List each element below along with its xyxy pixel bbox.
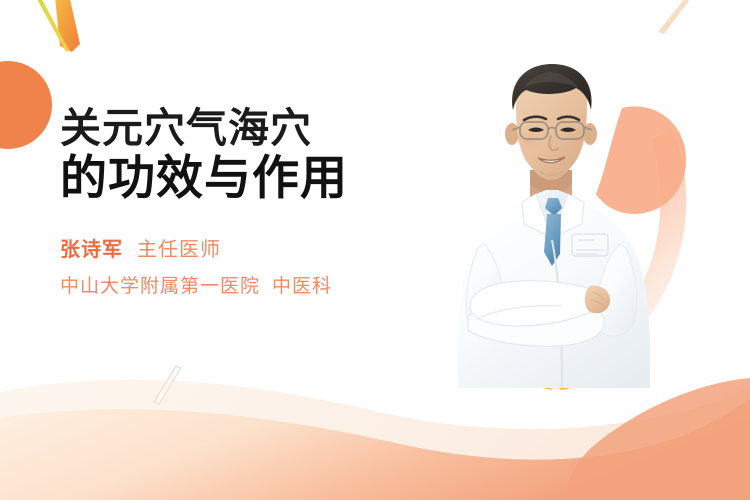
poster-canvas: 关元穴气海穴 的功效与作用 张诗军主任医师 中山大学附属第一医院中医科 bbox=[0, 0, 750, 500]
page-title-line-2: 的功效与作用 bbox=[60, 153, 460, 204]
presenter-name-row: 张诗军主任医师 bbox=[60, 240, 460, 260]
page-title-line-1: 关元穴气海穴 bbox=[60, 108, 460, 149]
orange-circle bbox=[0, 61, 52, 149]
bottom-wave-soft bbox=[0, 380, 750, 500]
presenter-department: 中医科 bbox=[272, 276, 332, 297]
doctor-portrait-illustration bbox=[432, 58, 682, 388]
yellow-line-stroke bbox=[33, 0, 69, 52]
presenter-name: 张诗军 bbox=[60, 239, 123, 261]
presenter-hospital: 中山大学附属第一医院 bbox=[60, 276, 260, 297]
bottom-wave bbox=[0, 398, 750, 500]
orange-ribbon-stroke bbox=[54, 0, 80, 52]
presenter-professional-title: 主任医师 bbox=[137, 239, 221, 261]
coral-blob-bottom-right bbox=[566, 378, 750, 500]
text-block: 关元穴气海穴 的功效与作用 张诗军主任医师 中山大学附属第一医院中医科 bbox=[60, 108, 460, 296]
outlined-diagonal-stroke bbox=[154, 366, 181, 404]
doctor-photo bbox=[432, 58, 682, 388]
cream-diagonal-stroke bbox=[658, 0, 694, 34]
presenter-meta: 张诗军主任医师 中山大学附属第一医院中医科 bbox=[60, 240, 460, 296]
presenter-affiliation-row: 中山大学附属第一医院中医科 bbox=[60, 277, 460, 296]
